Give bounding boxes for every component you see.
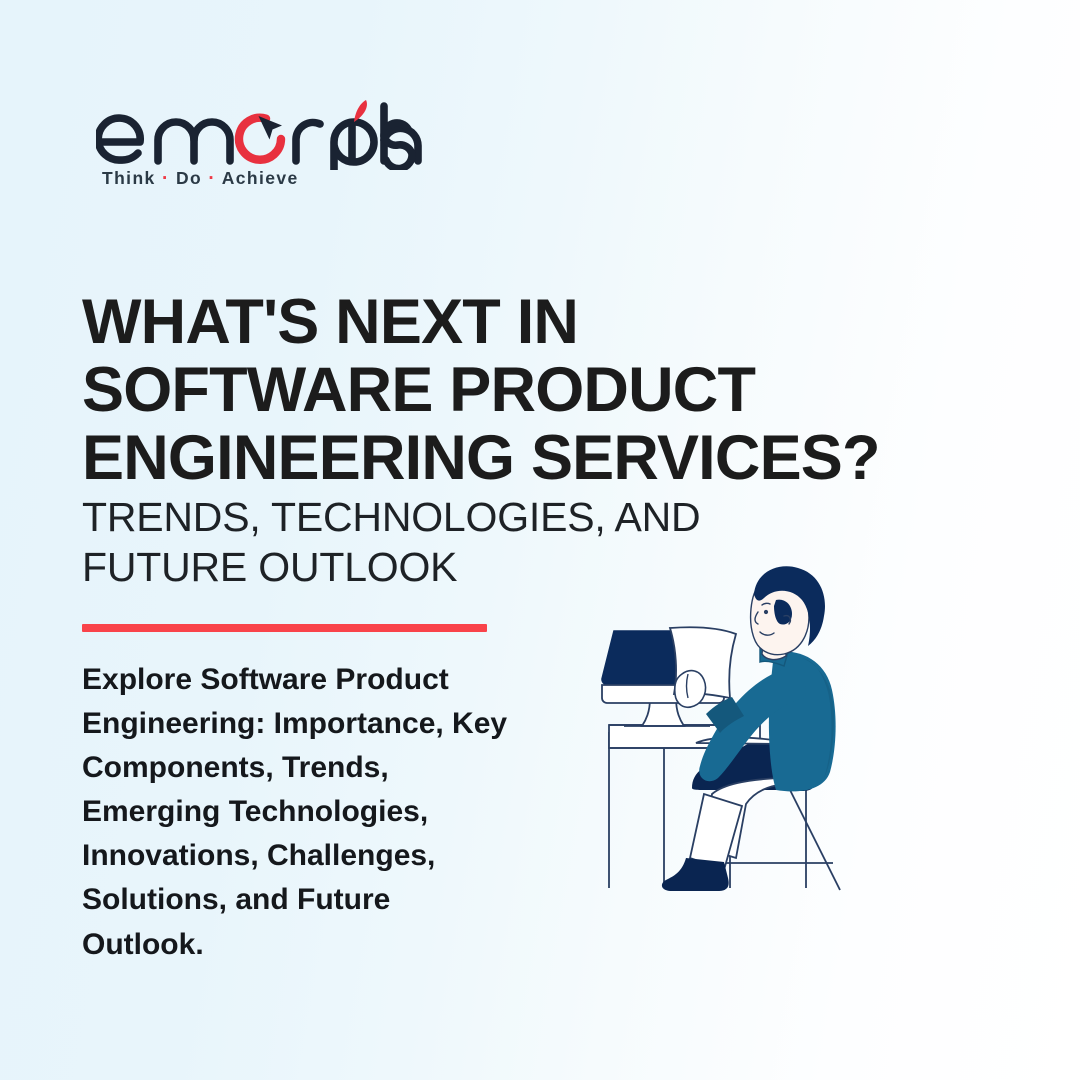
poster-canvas: Think · Do · Achieve WHAT'S NEXT IN SOFT…: [0, 0, 1080, 1080]
tagline-separator-2: ·: [208, 168, 216, 189]
headline-line-3: ENGINEERING SERVICES?: [82, 424, 912, 492]
page-title: WHAT'S NEXT IN SOFTWARE PRODUCT ENGINEER…: [82, 288, 912, 492]
tagline-separator-1: ·: [162, 168, 170, 189]
headline-line-2: SOFTWARE PRODUCT: [82, 356, 912, 424]
accent-divider: [82, 624, 487, 632]
person-at-desk-illustration: [578, 558, 998, 958]
tagline-word-1: Think: [102, 168, 156, 188]
brand-logo[interactable]: Think · Do · Achieve: [96, 98, 436, 198]
tagline-word-2: Do: [176, 168, 202, 188]
description-text: Explore Software Product Engineering: Im…: [82, 658, 512, 967]
headline-line-1: WHAT'S NEXT IN: [82, 288, 912, 356]
person-head: [751, 566, 825, 659]
tagline-word-3: Achieve: [222, 168, 299, 188]
brand-tagline: Think · Do · Achieve: [102, 168, 299, 190]
emorphis-is-icon: [328, 98, 448, 170]
subheadline-line-1: TRENDS, TECHNOLOGIES, AND: [82, 492, 842, 542]
logo-i-dot-leaf: [354, 100, 367, 122]
